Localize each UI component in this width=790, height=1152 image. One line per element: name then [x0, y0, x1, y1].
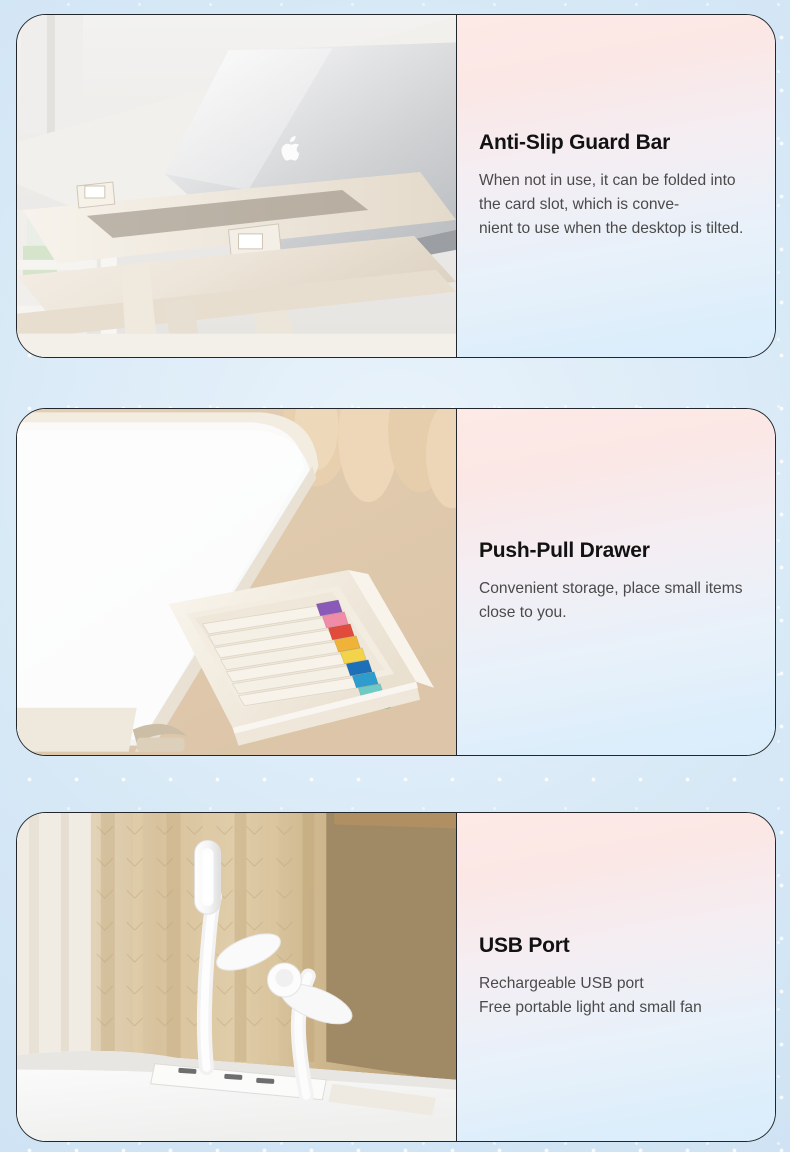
- feature-card-anti-slip-guard-bar[interactable]: Anti-Slip Guard Bar When not in use, it …: [16, 14, 776, 358]
- open-drawer-with-markers-illustration: [17, 409, 456, 755]
- feature-text-usb-port: USB Port Rechargeable USB port Free port…: [457, 813, 775, 1141]
- feature-description: Convenient storage, place small items cl…: [479, 577, 747, 624]
- feature-photo-anti-slip-guard-bar: [17, 15, 457, 357]
- feature-photo-usb-port: [17, 813, 457, 1141]
- laptop-on-desk-illustration: [17, 15, 456, 357]
- feature-text-push-pull-drawer: Push-Pull Drawer Convenient storage, pla…: [457, 409, 775, 755]
- feature-card-push-pull-drawer[interactable]: Push-Pull Drawer Convenient storage, pla…: [16, 408, 776, 756]
- feature-text-anti-slip-guard-bar: Anti-Slip Guard Bar When not in use, it …: [457, 15, 775, 357]
- feature-title: USB Port: [479, 934, 747, 958]
- feature-card-usb-port[interactable]: USB Port Rechargeable USB port Free port…: [16, 812, 776, 1142]
- usb-light-and-fan-illustration: [17, 813, 456, 1141]
- feature-card-stack: Anti-Slip Guard Bar When not in use, it …: [16, 0, 776, 1152]
- feature-title: Push-Pull Drawer: [479, 539, 747, 563]
- feature-description: Rechargeable USB port Free portable ligh…: [479, 972, 747, 1019]
- feature-title: Anti-Slip Guard Bar: [479, 131, 747, 155]
- feature-photo-push-pull-drawer: [17, 409, 457, 755]
- feature-description: When not in use, it can be folded into t…: [479, 169, 747, 240]
